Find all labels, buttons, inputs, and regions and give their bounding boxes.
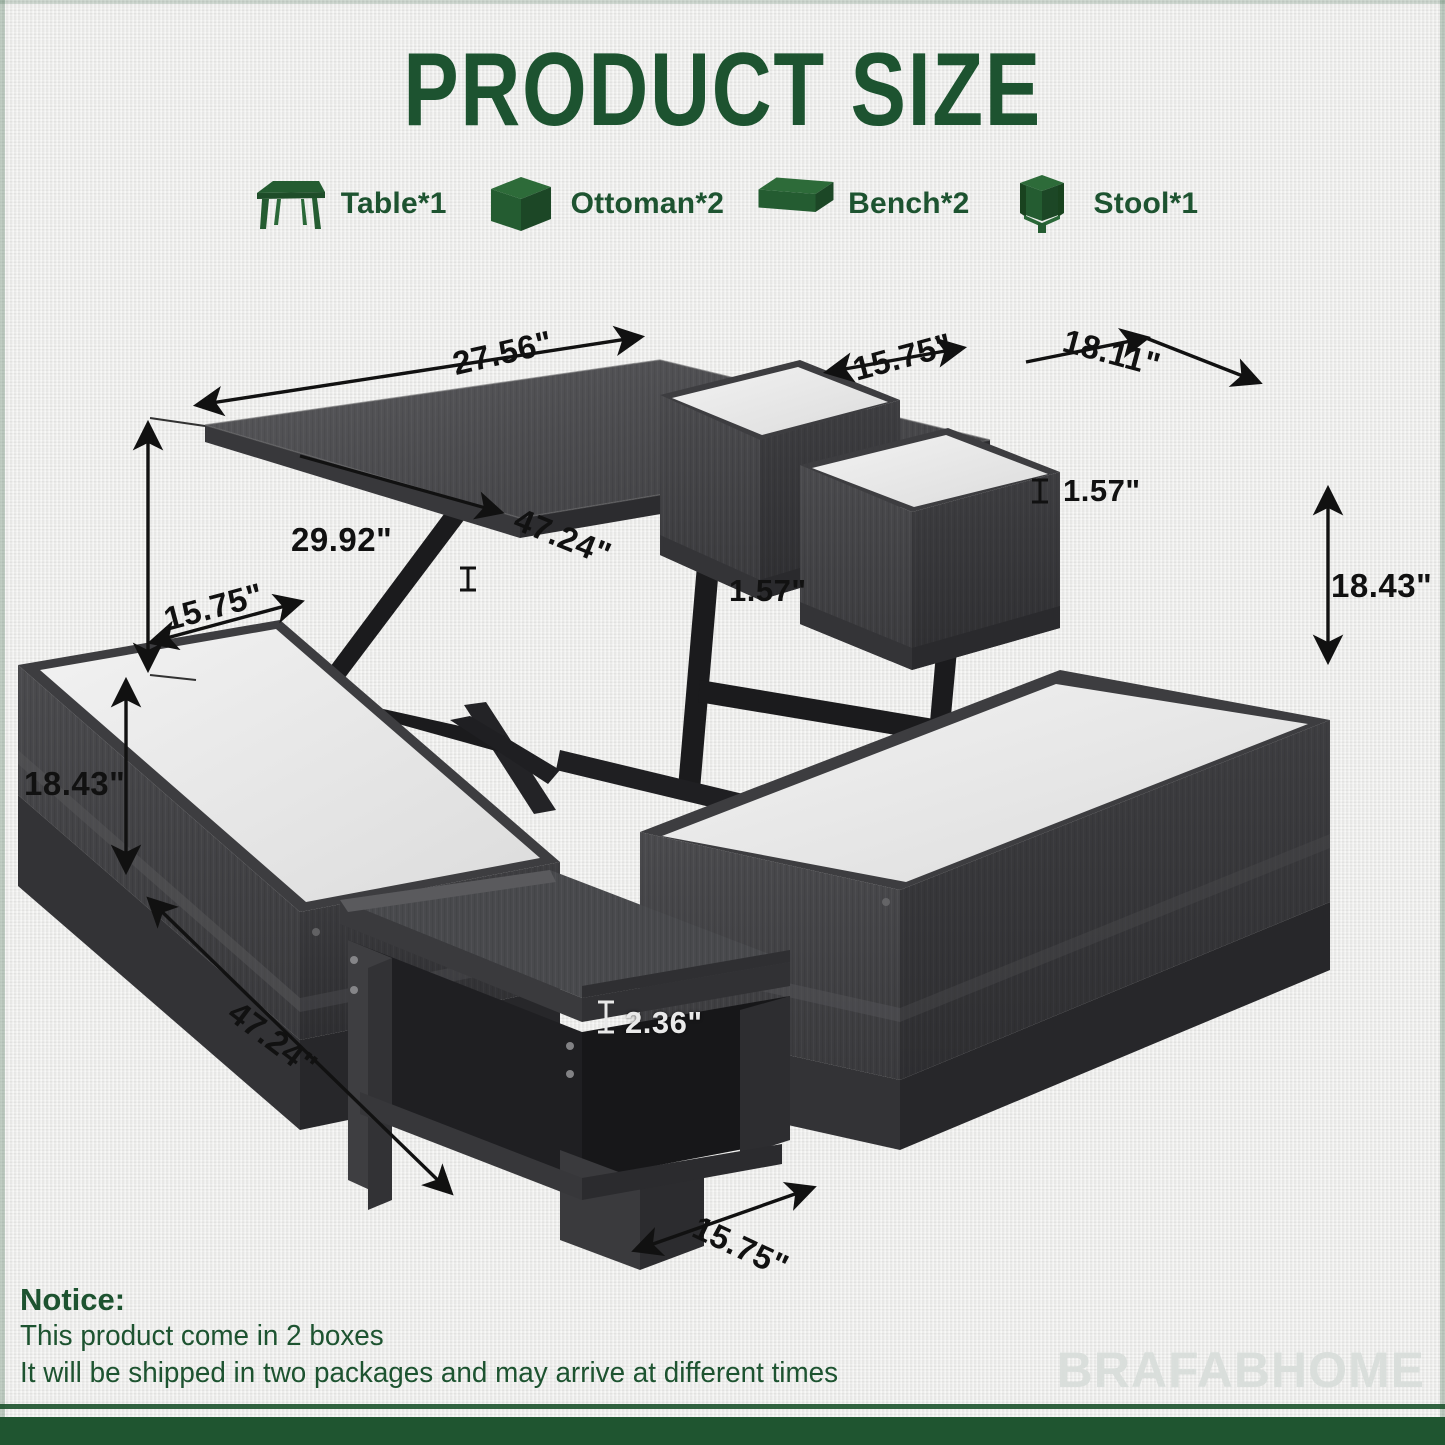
stool-icon [1000, 173, 1084, 235]
dim-table-top-thickness: 1.57" [729, 573, 807, 609]
page-title: PRODUCT SIZE [145, 34, 1301, 146]
poster-canvas: PRODUCT SIZE Table*1 [0, 0, 1445, 1445]
furniture-illustration [0, 250, 1445, 1290]
legend-label-ottoman: Ottoman*2 [571, 187, 725, 221]
bench-icon [754, 173, 838, 235]
legend-label-bench: Bench*2 [848, 187, 969, 221]
legend-item-bench: Bench*2 [754, 173, 969, 235]
legend-item-stool: Stool*1 [1000, 173, 1199, 235]
notice-heading: Notice: [20, 1283, 920, 1318]
ottoman-icon [477, 173, 561, 235]
table-icon [247, 173, 331, 235]
legend-label-stool: Stool*1 [1094, 187, 1199, 221]
notice-block: Notice: This product come in 2 boxes It … [20, 1283, 920, 1393]
notice-line-2: It will be shipped in two packages and m… [20, 1355, 884, 1393]
frame-top-edge [0, 0, 1445, 4]
frame-hairline [0, 1404, 1445, 1409]
dim-ottoman-height: 18.43" [1331, 567, 1432, 605]
legend-label-table: Table*1 [341, 187, 447, 221]
frame-bottom-bar [0, 1417, 1445, 1445]
legend-item-table: Table*1 [247, 173, 447, 235]
ottoman-2-group [800, 428, 1060, 670]
notice-line-1: This product come in 2 boxes [20, 1318, 884, 1356]
legend-item-ottoman: Ottoman*2 [477, 173, 725, 235]
dim-table-height: 29.92" [291, 521, 392, 559]
dim-stool-top-thickness: 2.36" [625, 1005, 703, 1041]
brand-watermark: BRAFABHOME [1057, 1341, 1425, 1399]
dim-bench-height: 18.43" [24, 765, 125, 803]
dim-ottoman-cushion: 1.57" [1063, 473, 1141, 509]
legend-row: Table*1 Ottoman*2 Bench*2 [0, 173, 1445, 235]
